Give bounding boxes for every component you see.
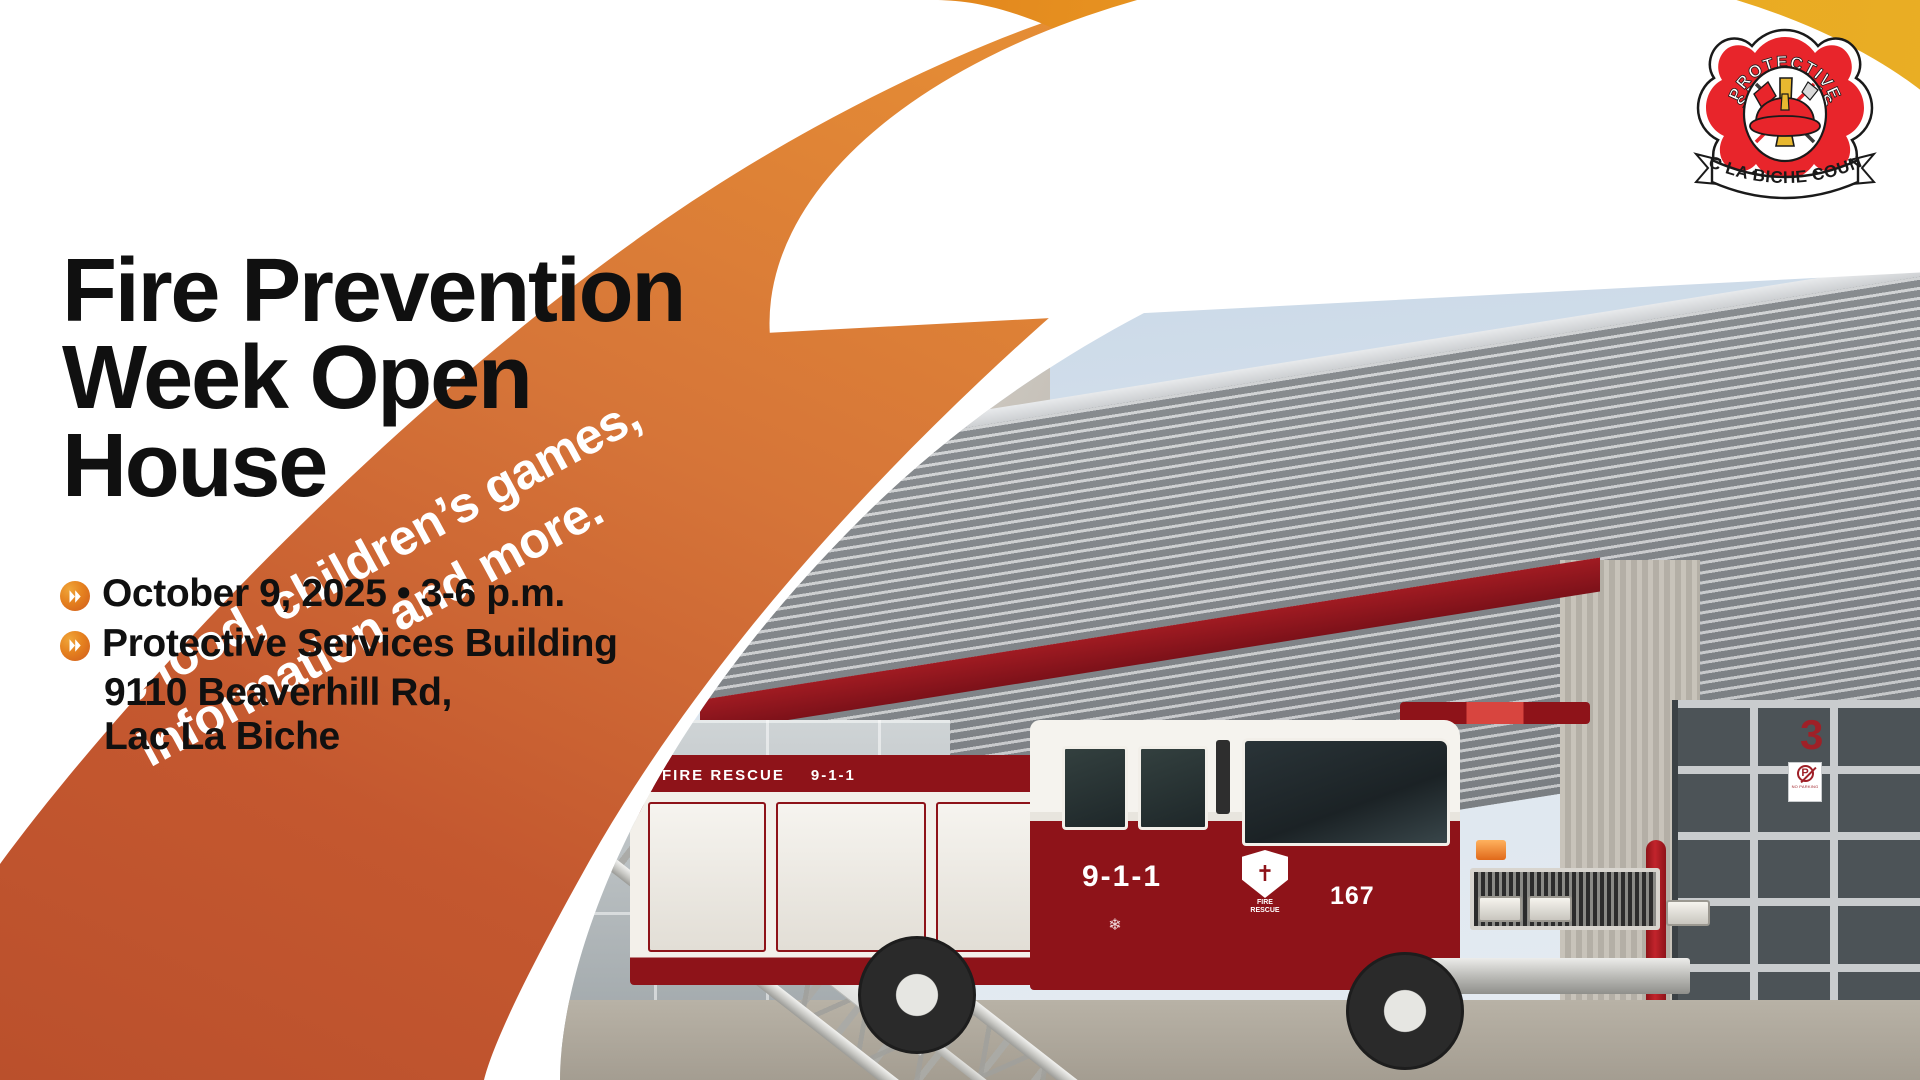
event-details: October 9, 2025 • 3-6 p.m. Protective Se… [60,572,860,759]
truck-windshield [1242,738,1450,846]
helmet-axe-horn-icon [1750,78,1820,146]
truck-county-decal: ❄ [1088,918,1142,954]
double-chevron-circle-icon [60,631,90,661]
county-logo: Lac La Biche County welcoming by nature. [62,78,432,142]
truck-mirror [1216,740,1230,814]
truck-body-number: 9-1-1 [811,767,856,784]
bay-door-number: 3 [1800,714,1823,756]
no-parking-sign-text: NO PARKING [1792,784,1819,789]
detail-row-venue: Protective Services Building [60,622,860,666]
county-tagline: welcoming by nature. [192,118,432,135]
detail-date-text: October 9, 2025 • 3-6 p.m. [102,572,565,616]
truck-front-wheel [1346,952,1464,1070]
county-name: Lac La Biche County [192,85,432,113]
detail-row-date: October 9, 2025 • 3-6 p.m. [60,572,860,616]
truck-body-label-text: FIRE RESCUE [662,767,785,784]
protective-services-badge: PROTECTIVE SERVICES LAC LA BICHE CO [1690,22,1880,212]
truck-cab-number: 9-1-1 [1082,860,1162,894]
garage-bay-door [1672,700,1920,1030]
truck-body-label: FIRE RESCUE 9-1-1 [644,762,1054,788]
headline-line-2: Week Open [62,335,922,422]
headline-line-3: House [62,423,922,510]
detail-venue-text: Protective Services Building [102,622,618,666]
truck-rear-wheel [858,936,976,1054]
maltese-cross-icon: ✝ FIRE RESCUE [1242,850,1288,912]
county-people-swoosh-icon [62,78,170,142]
truck-unit-number: 167 [1330,882,1375,911]
detail-address-line-2: Lac La Biche [104,715,860,759]
no-parking-sign-icon: P NO PARKING [1788,762,1822,802]
detail-address-line-1: 9110 Beaverhill Rd, [104,671,860,715]
double-chevron-circle-icon [60,581,90,611]
poster-canvas: 3 P NO PARKING REACHING NEW HEIGHTS [0,0,1920,1080]
